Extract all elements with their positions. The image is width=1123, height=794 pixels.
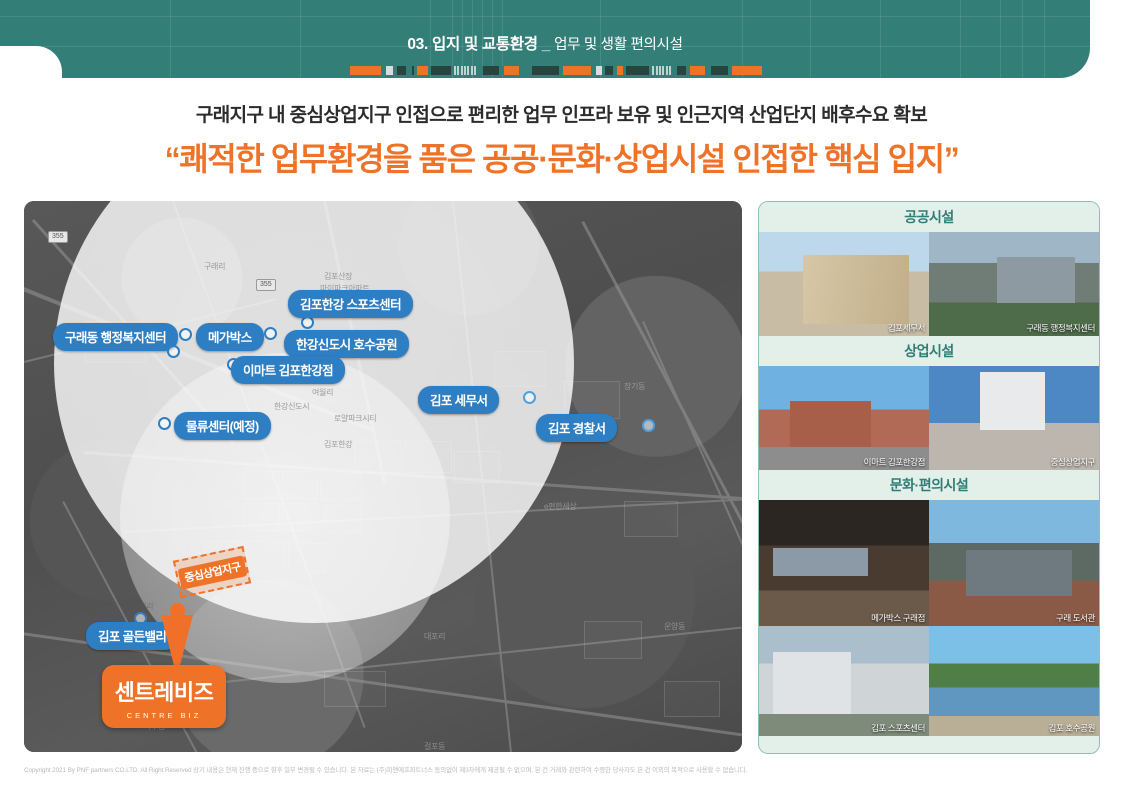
- facility-photo-panel: 공공시설 김포세무서 구래동 행정복지센터 상업시설 이마트 김포한강점 중심상…: [758, 201, 1100, 754]
- poi-label-logistics-center[interactable]: 물류센터(예정): [174, 412, 271, 440]
- poi-label-police-station[interactable]: 김포 경찰서: [536, 414, 617, 442]
- poi-label-community-center[interactable]: 구래동 행정복지센터: [53, 323, 178, 351]
- facility-section-heading: 문화·편의시설: [759, 470, 1099, 500]
- poi-label-tax-office[interactable]: 김포 세무서: [418, 386, 499, 414]
- photo-row: 김포세무서 구래동 행정복지센터: [759, 232, 1099, 336]
- photo-caption: 구래 도서관: [1056, 612, 1095, 624]
- photo-caption: 김포 호수공원: [1049, 722, 1095, 734]
- map-place-name: e편한세상: [544, 501, 576, 512]
- photo-row: 메가박스 구래점 구래 도서관: [759, 500, 1099, 626]
- facility-section-culture: 문화·편의시설 메가박스 구래점 구래 도서관 김포 스포츠센터 김포 호수공원: [759, 470, 1099, 736]
- map-place-name: 양곡리: [454, 229, 475, 240]
- photo-image-tax-office: [759, 232, 929, 336]
- photo-image-sports-center: [759, 626, 929, 736]
- poi-label-sports-center[interactable]: 김포한강 스포츠센터: [288, 290, 413, 318]
- facility-photo[interactable]: 김포 스포츠센터: [759, 626, 929, 736]
- photo-image-library: [929, 500, 1099, 626]
- poi-marker-megabox[interactable]: [167, 345, 180, 358]
- map-place-name: 김포한강: [324, 439, 352, 450]
- photo-image-lake-park: [929, 626, 1099, 736]
- header-title: 03. 입지 및 교통환경 _ 업무 및 생활 편의시설: [0, 32, 1090, 54]
- facility-photo[interactable]: 구래 도서관: [929, 500, 1099, 626]
- map-place-name: 한강신도시: [274, 401, 309, 412]
- photo-caption: 이마트 김포한강점: [864, 456, 925, 468]
- photo-caption: 중심상업지구: [1050, 456, 1095, 468]
- poi-marker-logistics-center[interactable]: [158, 417, 171, 430]
- poi-label-emart[interactable]: 이마트 김포한강점: [231, 356, 345, 384]
- facility-photo[interactable]: 이마트 김포한강점: [759, 366, 929, 470]
- header-title-sub: 업무 및 생활 편의시설: [554, 37, 683, 53]
- slide-main-title: “쾌적한 업무환경을 품은 공공·문화·상업시설 인접한 핵심 입지”: [0, 134, 1123, 180]
- map-place-name: 걸포동: [424, 741, 445, 752]
- photo-caption: 메가박스 구래점: [871, 612, 925, 624]
- facility-section-public: 공공시설 김포세무서 구래동 행정복지센터: [759, 202, 1099, 336]
- poi-label-lake-park[interactable]: 한강신도시 호수공원: [284, 330, 409, 358]
- route-shield-icon: 355: [48, 231, 68, 243]
- map-place-name: 유현리: [132, 601, 153, 612]
- facility-section-commercial: 상업시설 이마트 김포한강점 중심상업지구: [759, 336, 1099, 470]
- photo-caption: 김포세무서: [888, 322, 925, 334]
- footer-copyright: Copyright 2021 By PNF partners CO.LTD. A…: [24, 765, 1099, 774]
- map-place-name: 대포리: [424, 631, 445, 642]
- header-title-main: 03. 입지 및 교통환경 _: [407, 36, 554, 53]
- photo-row: 김포 스포츠센터 김포 호수공원: [759, 626, 1099, 736]
- photo-caption: 김포 스포츠센터: [871, 722, 925, 734]
- facility-photo[interactable]: 구래동 행정복지센터: [929, 232, 1099, 336]
- photo-image-community-center: [929, 232, 1099, 336]
- facility-photo[interactable]: 메가박스 구래점: [759, 500, 929, 626]
- facility-photo[interactable]: 중심상업지구: [929, 366, 1099, 470]
- poi-marker-lake-park[interactable]: [264, 327, 277, 340]
- route-shield-icon: 355: [256, 279, 276, 291]
- map-place-name: 장기동: [624, 381, 645, 392]
- poi-marker-police-station[interactable]: [642, 419, 655, 432]
- location-map[interactable]: 구래리 김포산장 마이파크아파트 양곡리 유현리 대포리 여월리 한강신도시 로…: [24, 201, 742, 752]
- project-logo-badge: 센트레비즈 CENTRE BIZ: [102, 665, 226, 728]
- map-place-name: 김포산장: [324, 271, 352, 282]
- project-logo-english: CENTRE BIZ: [102, 711, 226, 720]
- slide-subtitle: 구래지구 내 중심상업지구 인접으로 편리한 업무 인프라 보유 및 인근지역 …: [0, 100, 1123, 127]
- poi-marker-tax-office[interactable]: [523, 391, 536, 404]
- poi-marker-community-center[interactable]: [179, 328, 192, 341]
- map-place-name: 로얄파크시티: [334, 413, 376, 424]
- facility-photo[interactable]: 김포세무서: [759, 232, 929, 336]
- map-place-name: 운양동: [664, 621, 685, 632]
- photo-image-cbd: [929, 366, 1099, 470]
- photo-image-emart: [759, 366, 929, 470]
- poi-label-megabox[interactable]: 메가박스: [196, 323, 264, 351]
- map-place-name: 구래리: [204, 261, 225, 272]
- map-place-name: 여월리: [312, 387, 333, 398]
- photo-caption: 구래동 행정복지센터: [1026, 322, 1095, 334]
- header-barcode-strip: [340, 66, 770, 75]
- photo-image-megabox: [759, 500, 929, 626]
- facility-section-heading: 상업시설: [759, 336, 1099, 366]
- facility-photo[interactable]: 김포 호수공원: [929, 626, 1099, 736]
- facility-section-heading: 공공시설: [759, 202, 1099, 232]
- photo-row: 이마트 김포한강점 중심상업지구: [759, 366, 1099, 470]
- project-logo-korean: 센트레비즈: [102, 675, 226, 707]
